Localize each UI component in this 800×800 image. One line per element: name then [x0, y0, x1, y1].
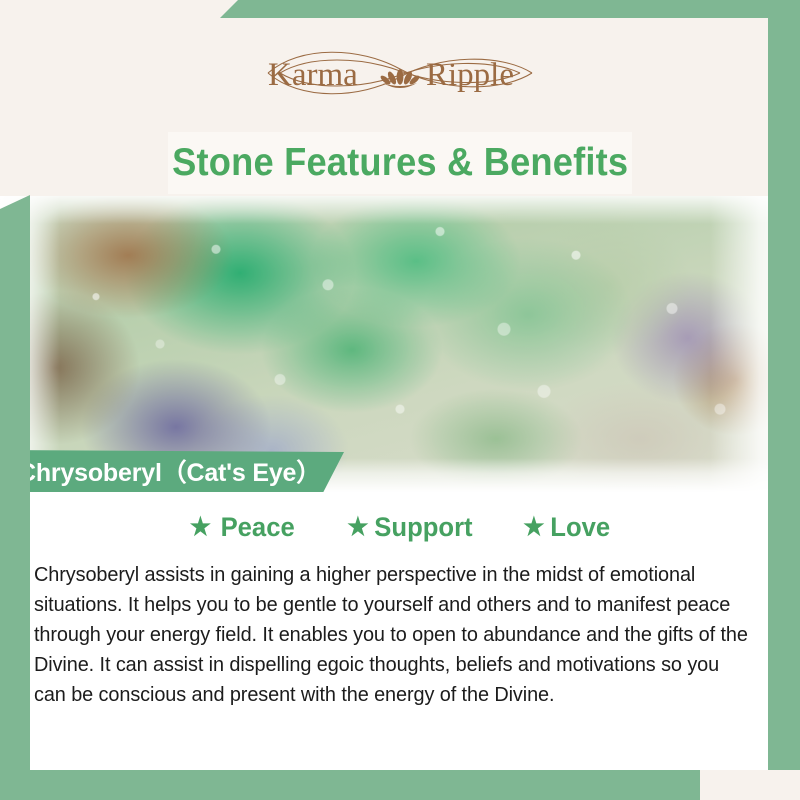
frame-top-bar — [220, 0, 800, 18]
stone-photo-fade-top — [0, 196, 800, 224]
stone-description: Chrysoberyl assists in gaining a higher … — [34, 560, 754, 710]
stone-photo-vignette — [0, 196, 800, 492]
star-icon: ★ — [524, 515, 545, 540]
stone-name-label: Chrysoberyl（Cat's Eye） — [0, 453, 321, 489]
stone-photo — [0, 196, 800, 492]
frame-left-bar — [0, 195, 30, 800]
infographic-page: Karma Ripple Stone Features & Benefits C… — [0, 0, 800, 800]
brand-logo: Karma Ripple — [0, 42, 800, 104]
page-title: Stone Features & Benefits — [172, 141, 628, 185]
keyword-love: ★ Love — [524, 512, 611, 543]
keyword-peace: ★ Peace — [190, 512, 295, 543]
header-area: Karma Ripple Stone Features & Benefits — [0, 0, 800, 196]
content-area: ★ Peace ★ Support ★ Love Chrysoberyl ass… — [0, 492, 800, 770]
keyword-label: Love — [551, 512, 611, 543]
karma-ripple-logo-svg: Karma Ripple — [250, 43, 550, 103]
star-icon: ★ — [190, 515, 211, 540]
keyword-label: Peace — [221, 512, 295, 543]
keyword-support: ★ Support — [347, 512, 472, 543]
star-icon: ★ — [347, 515, 368, 540]
frame-bottom-bar — [0, 770, 700, 800]
title-band: Stone Features & Benefits — [168, 132, 632, 194]
frame-right-bar — [768, 0, 800, 770]
keyword-list: ★ Peace ★ Support ★ Love — [0, 512, 800, 543]
brand-name-right: Ripple — [426, 57, 514, 93]
stone-name-banner: Chrysoberyl（Cat's Eye） — [0, 450, 344, 492]
brand-name-left: Karma — [268, 57, 358, 93]
keyword-label: Support — [374, 512, 472, 543]
